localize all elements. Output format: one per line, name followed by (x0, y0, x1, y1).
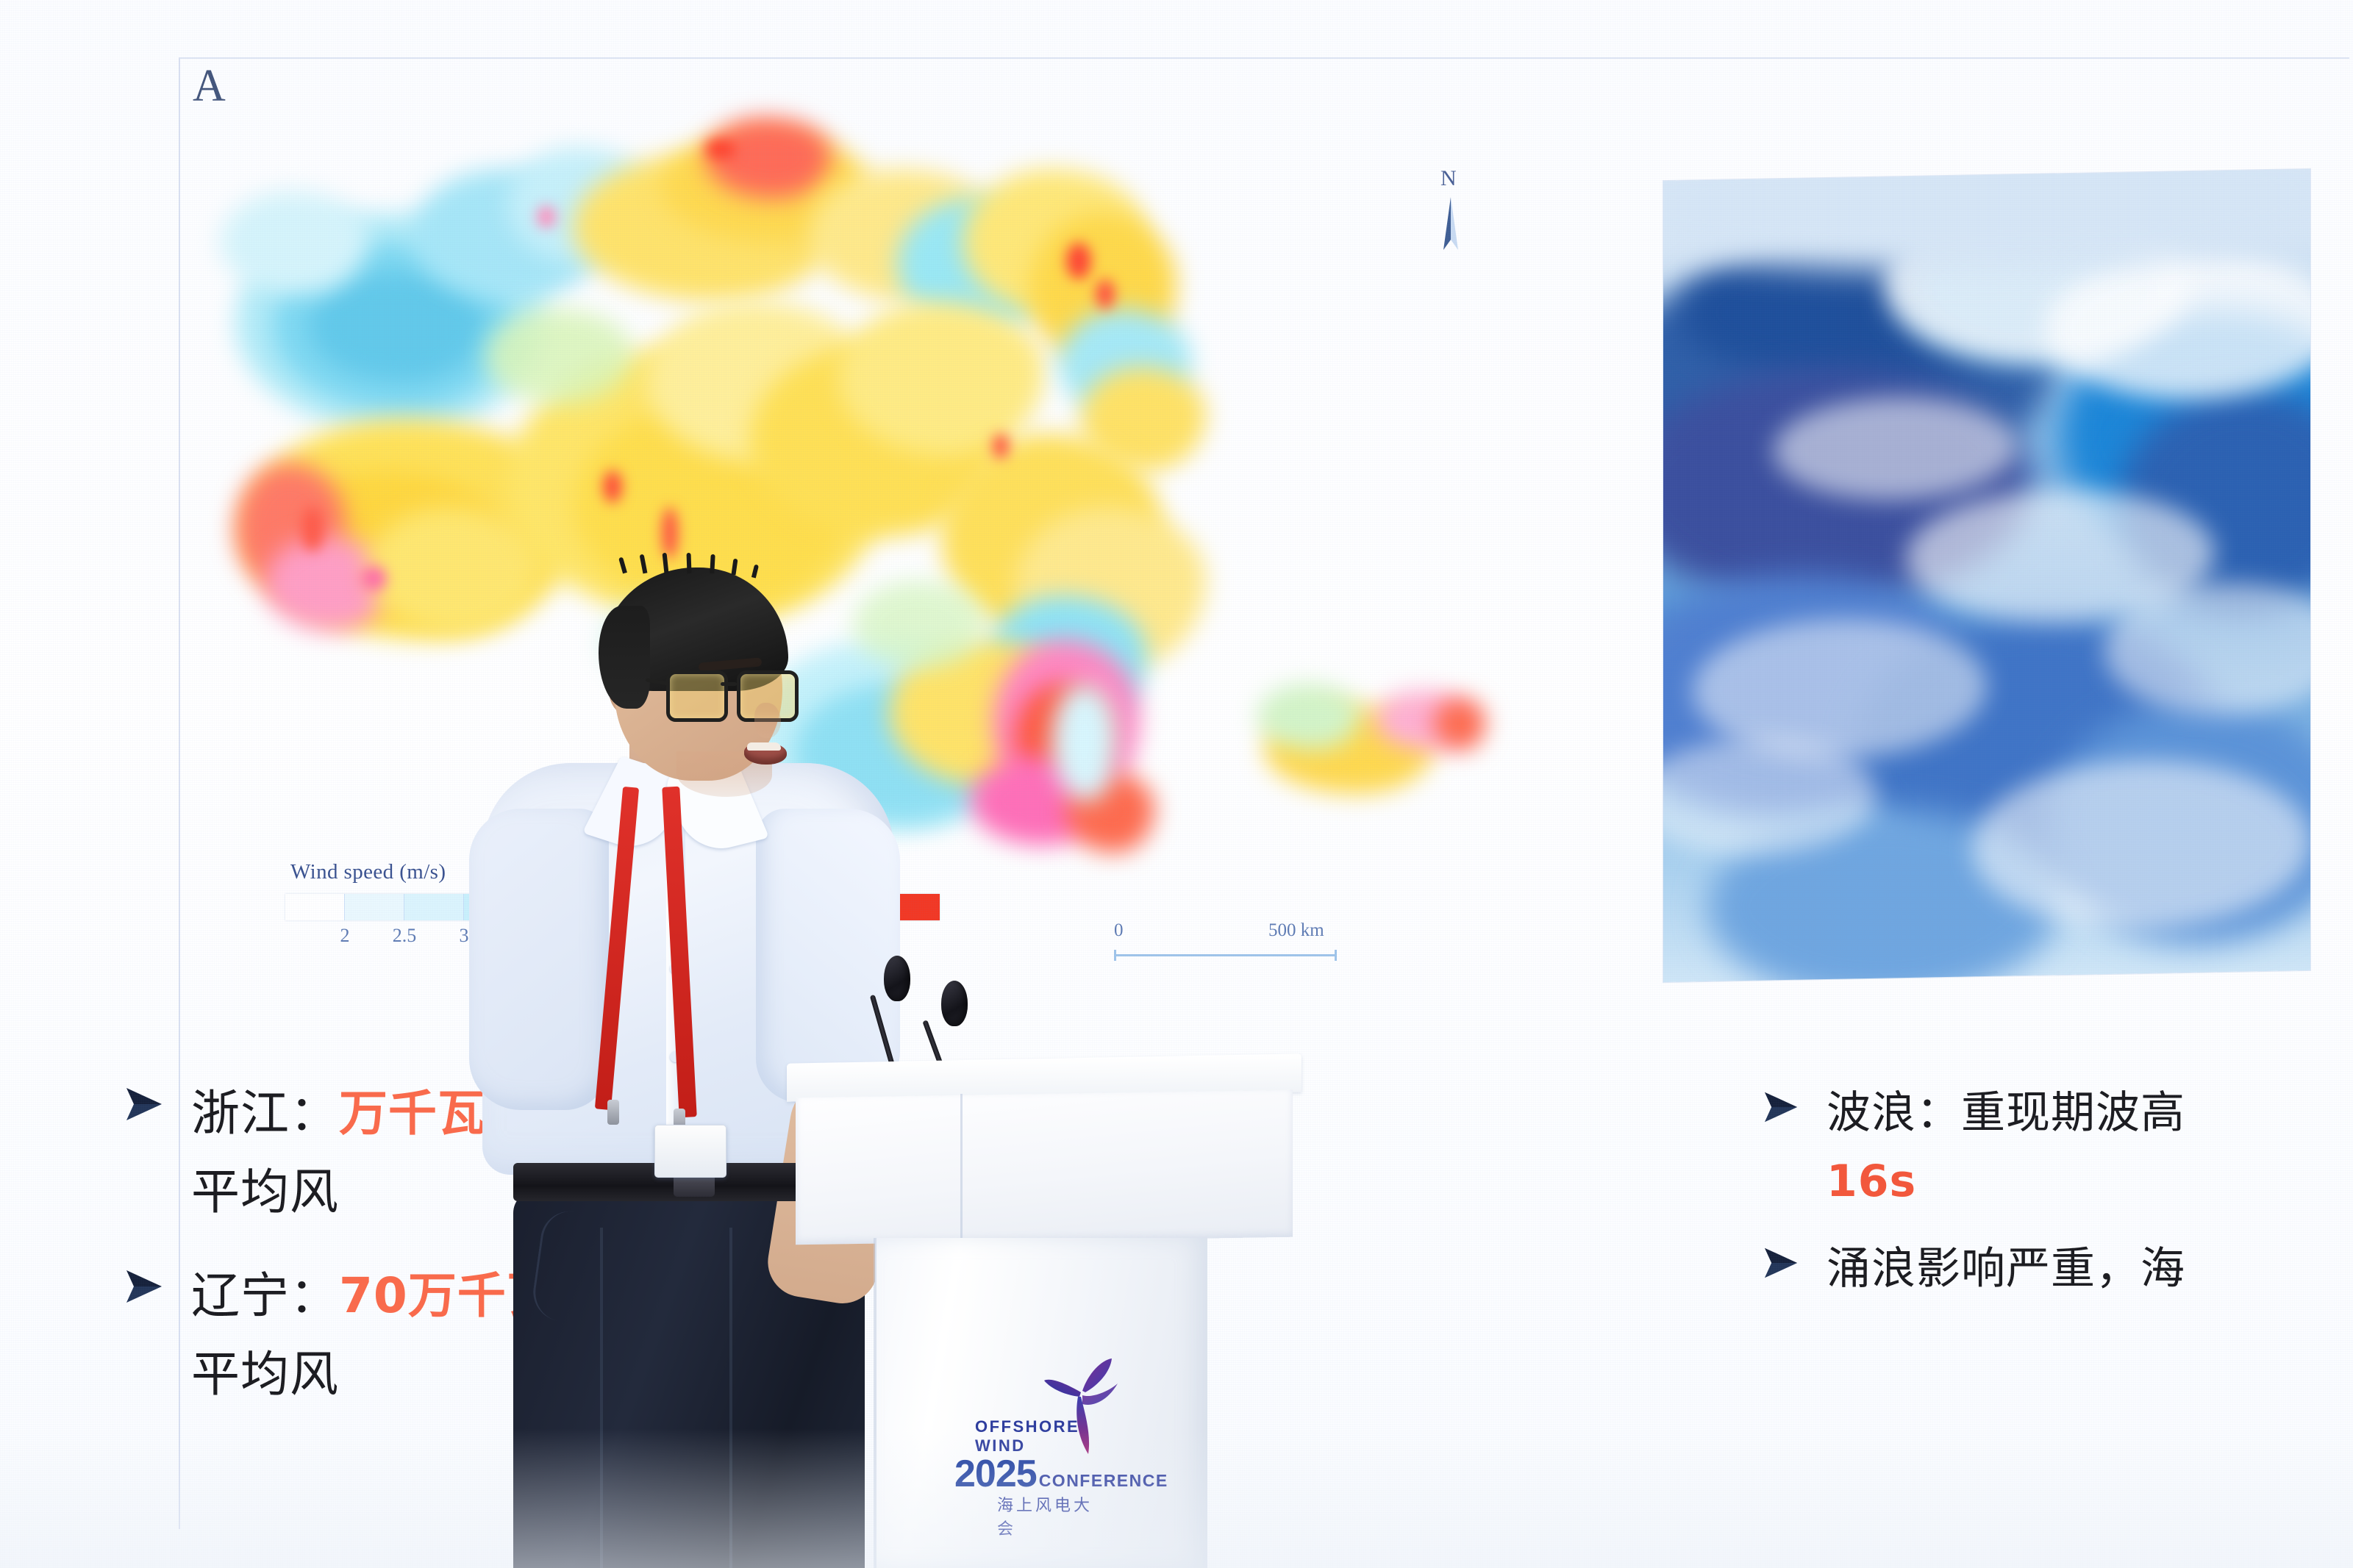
slide-bullets-right: 波浪：重现期波高 16s 涌浪影响严重，海 (1762, 1079, 2350, 1303)
bullet-item: 涌浪影响严重，海 (1762, 1235, 2350, 1303)
bullet-text: 涌浪影响严重，海 (1827, 1235, 2185, 1303)
speaker-badge (654, 1125, 726, 1178)
bullet-arrow-icon (124, 1075, 191, 1123)
north-arrow-icon: N (1434, 169, 1468, 257)
scalebar-start: 0 (1114, 920, 1124, 941)
scalebar-line (1114, 950, 1379, 960)
ocean-waves-photo (1663, 169, 2310, 982)
bullet-arrow-icon (1762, 1079, 1827, 1125)
bullet-text: 波浪：重现期波高 16s (1827, 1079, 2185, 1216)
scalebar-end: 500 km (1268, 920, 1324, 941)
map-scalebar: 0 500 km (1114, 920, 1379, 960)
bullet-arrow-icon (1762, 1235, 1827, 1281)
podium-front-panel (796, 1090, 1293, 1245)
floor-gradient (0, 1428, 2353, 1568)
north-label: N (1440, 166, 1457, 191)
screenshot-root: A (0, 0, 2353, 1568)
panel-label-a: A (193, 60, 226, 112)
speaker-nose (754, 703, 781, 738)
speaker-sleeve-left (469, 809, 609, 1110)
bullet-arrow-icon (124, 1257, 191, 1306)
bullet-item: 波浪：重现期波高 16s (1762, 1079, 2350, 1216)
